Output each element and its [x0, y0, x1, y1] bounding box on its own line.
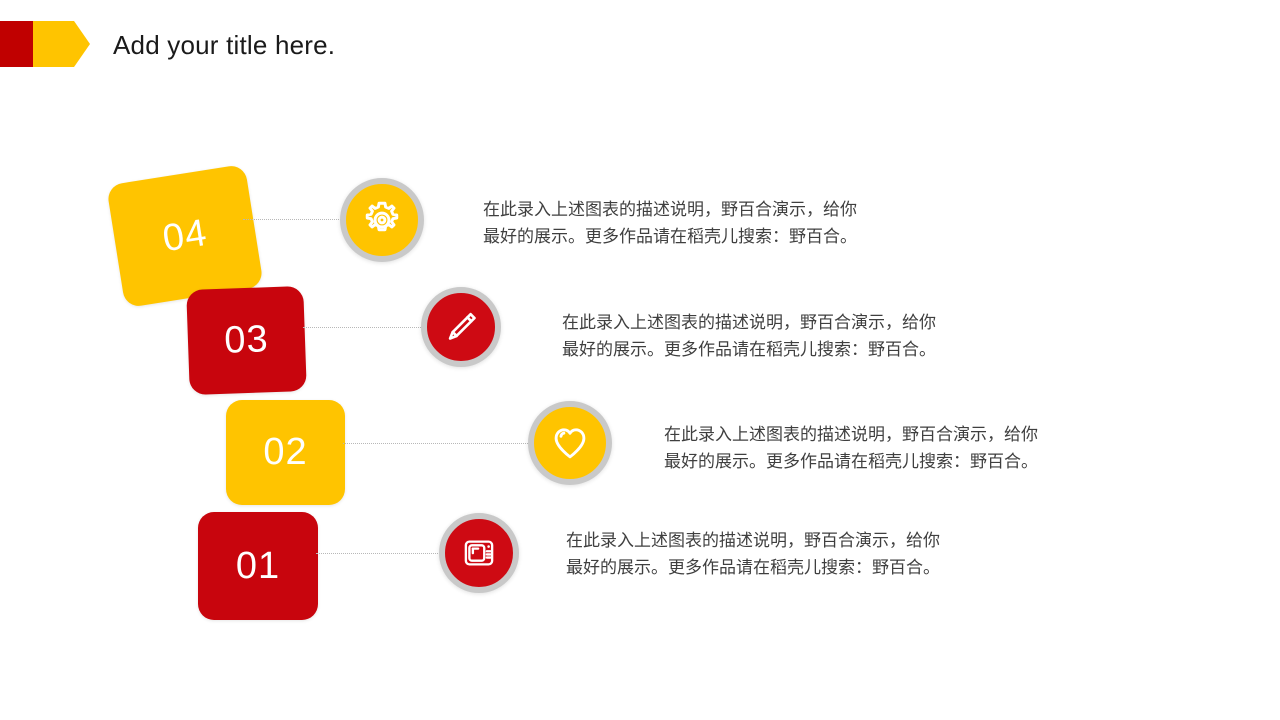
- number-card-label-04: 04: [160, 211, 210, 260]
- row-description-line1-03: 在此录入上述图表的描述说明，野百合演示，给你: [562, 310, 936, 337]
- row-description-line1-01: 在此录入上述图表的描述说明，野百合演示，给你: [566, 528, 940, 555]
- connector-line-04: [243, 219, 343, 220]
- row-description-04: 在此录入上述图表的描述说明，野百合演示，给你 最好的展示。更多作品请在稻壳儿搜索…: [483, 197, 857, 251]
- number-card-label-02: 02: [263, 431, 307, 474]
- row-description-line2-02: 最好的展示。更多作品请在稻壳儿搜索：野百合。: [664, 449, 1038, 476]
- slide-canvas: Add your title here. 04 在此录入上述图表的描述说明，野百…: [0, 0, 1280, 720]
- number-card-04[interactable]: 04: [106, 164, 264, 308]
- row-description-line2-03: 最好的展示。更多作品请在稻壳儿搜索：野百合。: [562, 337, 936, 364]
- heart-icon: [547, 420, 593, 466]
- icon-bubble-01[interactable]: [439, 513, 519, 593]
- connector-line-01: [316, 553, 440, 554]
- number-card-label-03: 03: [224, 318, 270, 363]
- number-card-02[interactable]: 02: [226, 400, 345, 505]
- row-description-line2-04: 最好的展示。更多作品请在稻壳儿搜索：野百合。: [483, 224, 857, 251]
- row-description-line1-04: 在此录入上述图表的描述说明，野百合演示，给你: [483, 197, 857, 224]
- icon-bubble-03[interactable]: [421, 287, 501, 367]
- icon-bubble-04[interactable]: [340, 178, 424, 262]
- row-description-line1-02: 在此录入上述图表的描述说明，野百合演示，给你: [664, 422, 1038, 449]
- page-title: Add your title here.: [113, 27, 335, 63]
- tv-icon: [458, 532, 500, 574]
- row-description-02: 在此录入上述图表的描述说明，野百合演示，给你 最好的展示。更多作品请在稻壳儿搜索…: [664, 422, 1038, 476]
- number-card-03[interactable]: 03: [186, 286, 307, 395]
- header-red-block: [0, 21, 33, 67]
- row-description-line2-01: 最好的展示。更多作品请在稻壳儿搜索：野百合。: [566, 555, 940, 582]
- gear-icon: [359, 197, 405, 243]
- connector-line-02: [343, 443, 530, 444]
- header-yellow-arrow-icon: [33, 21, 90, 67]
- number-card-01[interactable]: 01: [198, 512, 318, 620]
- number-card-label-01: 01: [236, 545, 280, 588]
- row-description-03: 在此录入上述图表的描述说明，野百合演示，给你 最好的展示。更多作品请在稻壳儿搜索…: [562, 310, 936, 364]
- icon-bubble-02[interactable]: [528, 401, 612, 485]
- pencil-icon: [439, 305, 483, 349]
- row-description-01: 在此录入上述图表的描述说明，野百合演示，给你 最好的展示。更多作品请在稻壳儿搜索…: [566, 528, 940, 582]
- connector-line-03: [303, 327, 421, 328]
- slide-header: Add your title here.: [0, 0, 1280, 95]
